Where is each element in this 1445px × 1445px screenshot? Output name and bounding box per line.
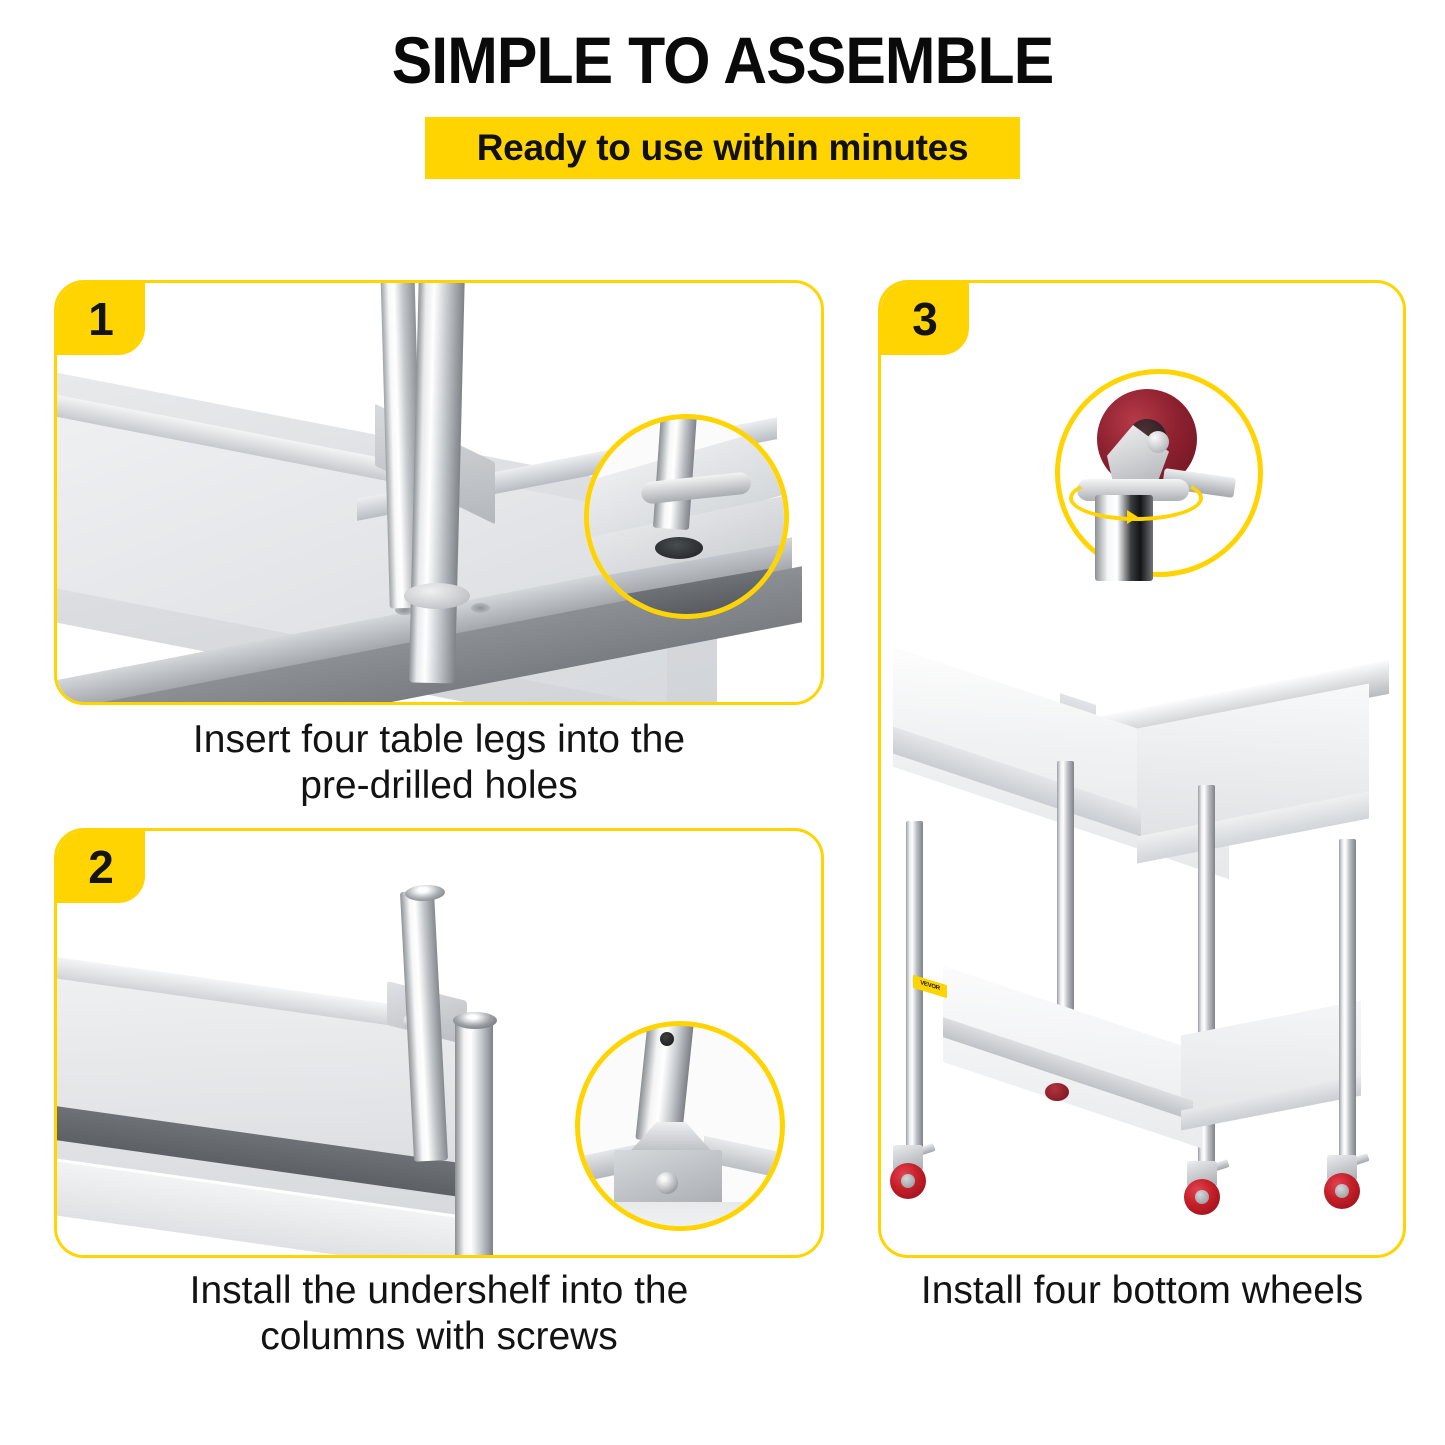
caster-hub (901, 1174, 915, 1188)
column-tube-opening (453, 1012, 497, 1029)
table-caster-back-left (1045, 1083, 1069, 1101)
step-panel-2: 2 (54, 828, 824, 1258)
table-caster-back-right (1181, 1161, 1223, 1213)
caption-line: pre-drilled holes (54, 763, 824, 809)
inset-leg-socket (655, 537, 703, 559)
page-title: SIMPLE TO ASSEMBLE (58, 22, 1387, 98)
step-caption-1: Insert four table legs into the pre-dril… (54, 717, 824, 809)
step-badge-3: 3 (881, 283, 969, 355)
detail-inset-2 (575, 1021, 785, 1231)
step-badge-1: 1 (57, 283, 145, 355)
step-2-photo (57, 831, 821, 1255)
step-caption-2: Install the undershelf into the columns … (54, 1268, 824, 1360)
caption-line: Install four bottom wheels (878, 1268, 1406, 1314)
caster-hub (1335, 1184, 1349, 1198)
inset-reflection (575, 1202, 785, 1231)
subtitle-banner: Ready to use within minutes (425, 117, 1020, 179)
column-tube-opening (405, 884, 446, 902)
detail-inset-1 (584, 414, 789, 619)
table-caster-front-left (887, 1145, 929, 1197)
inset-screw (656, 1172, 678, 1194)
pre-drilled-hole (471, 603, 490, 613)
caption-line: Insert four table legs into the (54, 717, 824, 763)
step-3-photo: VEVOR (881, 283, 1403, 1255)
inset-tube-hole (660, 1032, 674, 1046)
caption-line: Install the undershelf into the (54, 1268, 824, 1314)
caption-line: columns with screws (54, 1314, 824, 1360)
step-1-photo (57, 283, 821, 702)
step-panel-3: VEVOR 3 (878, 280, 1406, 1258)
table-leg-front-right (1339, 839, 1356, 1169)
leg-flange (404, 583, 470, 609)
rotation-arrow-head-icon (1127, 510, 1138, 524)
step-panel-1: 1 (54, 280, 824, 705)
step-badge-2: 2 (57, 831, 145, 903)
table-leg-front-left (906, 821, 923, 1161)
step-caption-3: Install four bottom wheels (878, 1268, 1406, 1314)
subtitle-text: Ready to use within minutes (477, 127, 968, 169)
caster-axle (1147, 431, 1169, 453)
header: SIMPLE TO ASSEMBLE Ready to use within m… (0, 0, 1445, 240)
table-caster-front-right (1321, 1155, 1363, 1207)
caster-hub (1195, 1190, 1209, 1204)
column-tube-front (455, 1019, 493, 1258)
